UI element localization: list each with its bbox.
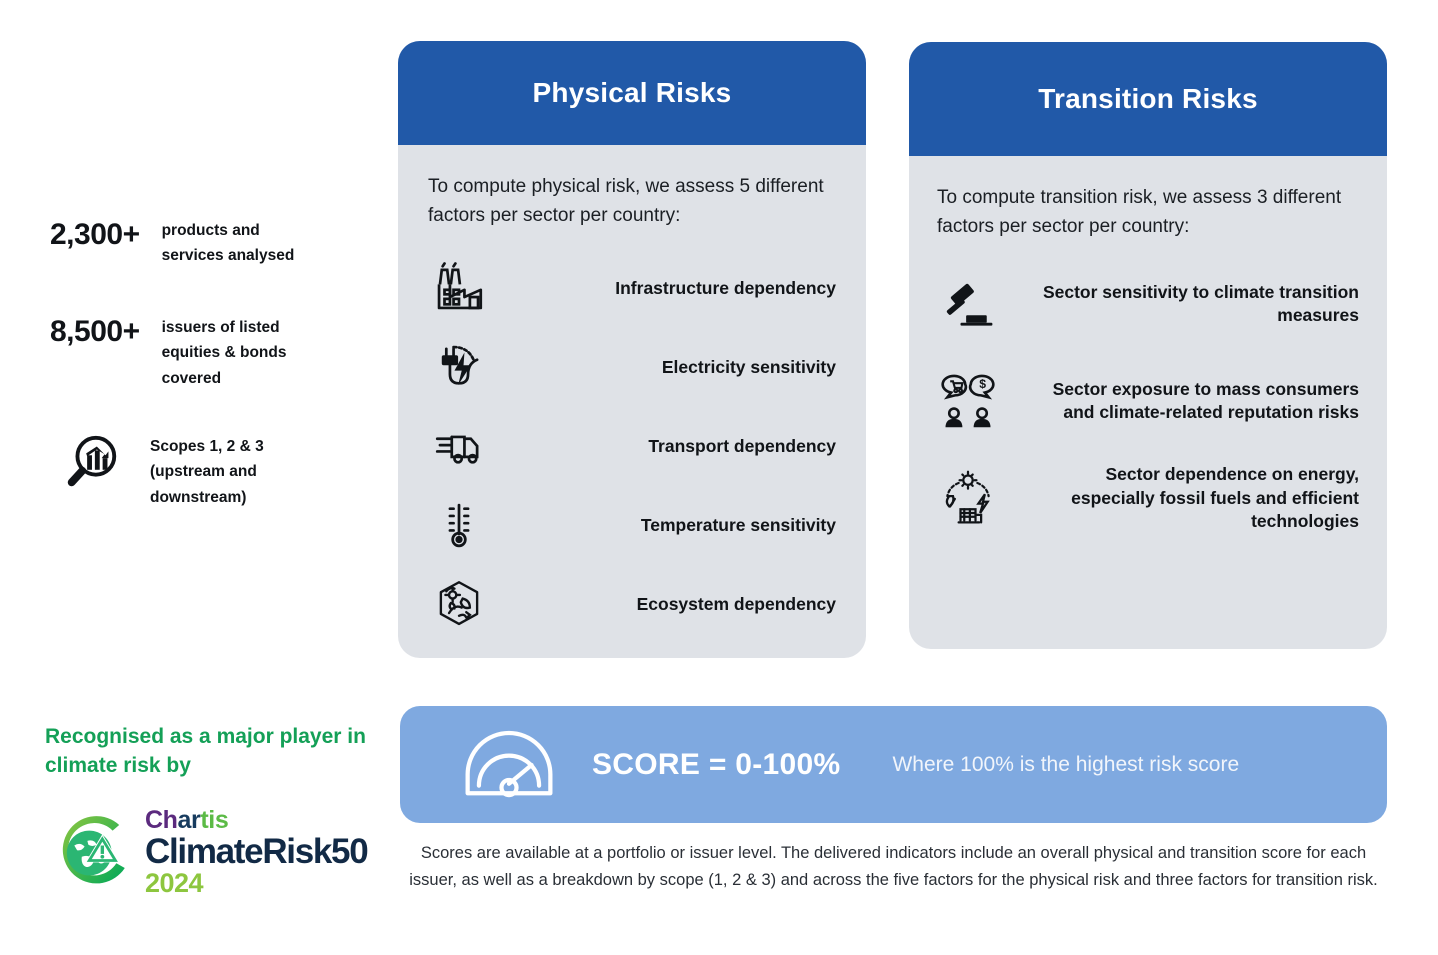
factor-row: Temperature sensitivity [428,486,836,565]
svg-text:$: $ [979,377,986,391]
ecosystem-icon [428,573,490,635]
stat-issuers: 8,500+ issuers of listed equities & bond… [50,315,286,391]
stat-label: Scopes 1, 2 & 3 (upstream and downstream… [150,434,264,510]
consumers-speech-icon: $ [937,370,999,432]
gavel-icon [937,273,999,335]
card-physical-title: Physical Risks [398,41,866,145]
factor-label: Transport dependency [490,435,836,458]
card-transition-risks: Transition Risks To compute transition r… [909,42,1387,649]
factor-label: Sector dependence on energy, especially … [999,463,1359,533]
transition-factor-list: Sector sensitivity to climate transition… [937,256,1359,547]
chartis-year: 2024 [145,870,367,897]
stat-products: 2,300+ products and services analysed [50,218,294,269]
factor-row: Ecosystem dependency [428,565,836,644]
chartis-brand: Chartis [145,806,228,834]
chartis-brand-part3: tis [200,806,228,834]
delivery-truck-icon [428,415,490,477]
score-value-label: SCORE = 0-100% [592,748,840,782]
footer-description: Scores are available at a portfolio or i… [400,840,1387,893]
infographic-page: 2,300+ products and services analysed 8,… [0,0,1438,955]
thermometer-icon [428,494,490,556]
factor-row: Sector dependence on energy, especially … [937,450,1359,547]
chartis-wordmark: Chartis ClimateRisk50 2024 [145,808,367,897]
factor-label: Infrastructure dependency [490,277,836,300]
factory-icon [428,257,490,319]
factor-row: Infrastructure dependency [428,249,836,328]
card-transition-intro: To compute transition risk, we assess 3 … [937,156,1359,242]
chartis-brand-part1: Ch [145,806,178,834]
card-transition-title: Transition Risks [909,42,1387,156]
chartis-brand-part2: ar [178,806,201,834]
stat-number: 2,300+ [50,218,140,252]
factor-label: Temperature sensitivity [490,514,836,537]
plug-lightning-icon [428,336,490,398]
stat-scopes: Scopes 1, 2 & 3 (upstream and downstream… [60,432,264,510]
magnifier-chart-icon [60,432,122,494]
stat-label: products and services analysed [162,218,295,269]
stat-label: issuers of listed equities & bonds cover… [162,315,287,391]
factor-label: Ecosystem dependency [490,593,836,616]
physical-factor-list: Infrastructure dependency [428,249,836,644]
score-banner: SCORE = 0-100% Where 100% is the highest… [400,706,1387,823]
card-transition-body: To compute transition risk, we assess 3 … [909,156,1387,547]
recognition-headline: Recognised as a major player in climate … [45,723,385,780]
chartis-product-name: ClimateRisk50 [145,834,367,869]
left-column: 2,300+ products and services analysed 8,… [40,0,390,955]
factor-row: Sector sensitivity to climate transition… [937,256,1359,353]
factor-row: $ Sector exposure to mass consumers and … [937,353,1359,450]
score-note-label: Where 100% is the highest risk score [892,753,1239,777]
stat-number: 8,500+ [50,315,140,349]
factor-row: Transport dependency [428,407,836,486]
card-physical-body: To compute physical risk, we assess 5 di… [398,145,866,644]
factor-row: Electricity sensitivity [428,328,836,407]
factor-label: Electricity sensitivity [490,356,836,379]
gauge-icon [462,727,556,803]
card-physical-intro: To compute physical risk, we assess 5 di… [428,145,836,231]
globe-warning-icon [45,810,141,896]
card-physical-risks: Physical Risks To compute physical risk,… [398,41,866,658]
energy-sun-icon [937,467,999,529]
factor-label: Sector exposure to mass consumers and cl… [999,378,1359,425]
factor-label: Sector sensitivity to climate transition… [999,281,1359,328]
chartis-logo: Chartis ClimateRisk50 2024 [45,808,367,897]
